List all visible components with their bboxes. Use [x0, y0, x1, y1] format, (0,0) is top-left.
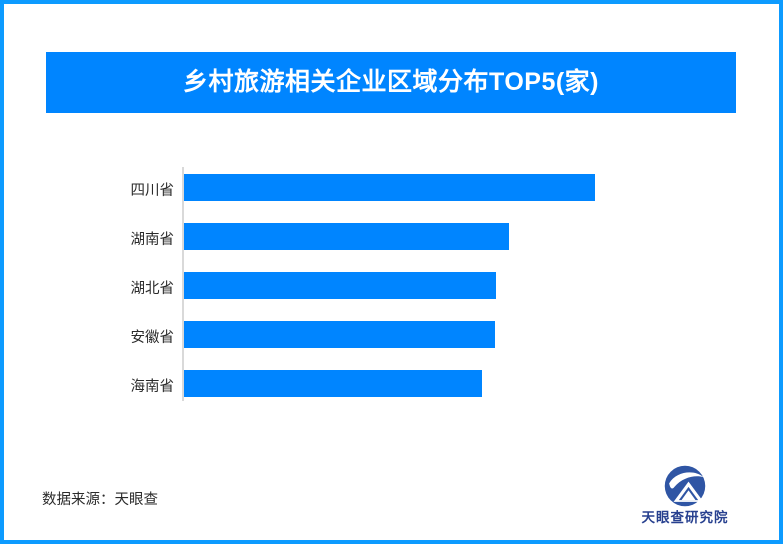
bar-track: [184, 174, 595, 201]
data-source-note: 数据来源：天眼查: [42, 493, 158, 508]
bar-track: [184, 370, 482, 397]
page-title: 乡村旅游相关企业区域分布TOP5(家): [183, 70, 599, 95]
bar-hunan[interactable]: [184, 223, 509, 250]
tianyancha-eye-logo-icon: [663, 464, 707, 508]
bar-hainan[interactable]: [184, 370, 482, 397]
bar-row: 湖北省: [4, 265, 783, 314]
bar-track: [184, 272, 496, 299]
brand-logo: 天眼查研究院: [625, 464, 745, 525]
bar-anhui[interactable]: [184, 321, 495, 348]
brand-name-label: 天眼查研究院: [642, 511, 729, 525]
bar-track: [184, 223, 509, 250]
bar-track: [184, 321, 495, 348]
bar-sichuan[interactable]: [184, 174, 595, 201]
chart-title-banner: 乡村旅游相关企业区域分布TOP5(家): [46, 52, 736, 113]
category-label-hunan: 湖南省: [64, 233, 174, 248]
bar-chart: 四川省 湖南省 湖北省 安徽省: [4, 154, 783, 414]
bar-row: 四川省: [4, 167, 783, 216]
category-label-sichuan: 四川省: [64, 184, 174, 199]
category-label-hubei: 湖北省: [64, 282, 174, 297]
bar-row: 湖南省: [4, 216, 783, 265]
category-label-anhui: 安徽省: [64, 331, 174, 346]
bar-row: 安徽省: [4, 314, 783, 363]
bar-rows: 四川省 湖南省 湖北省 安徽省: [4, 167, 783, 412]
bar-hubei[interactable]: [184, 272, 496, 299]
category-label-hainan: 海南省: [64, 380, 174, 395]
bar-row: 海南省: [4, 363, 783, 412]
infographic-card: 乡村旅游相关企业区域分布TOP5(家) 四川省 湖南省 湖北省: [0, 0, 783, 544]
